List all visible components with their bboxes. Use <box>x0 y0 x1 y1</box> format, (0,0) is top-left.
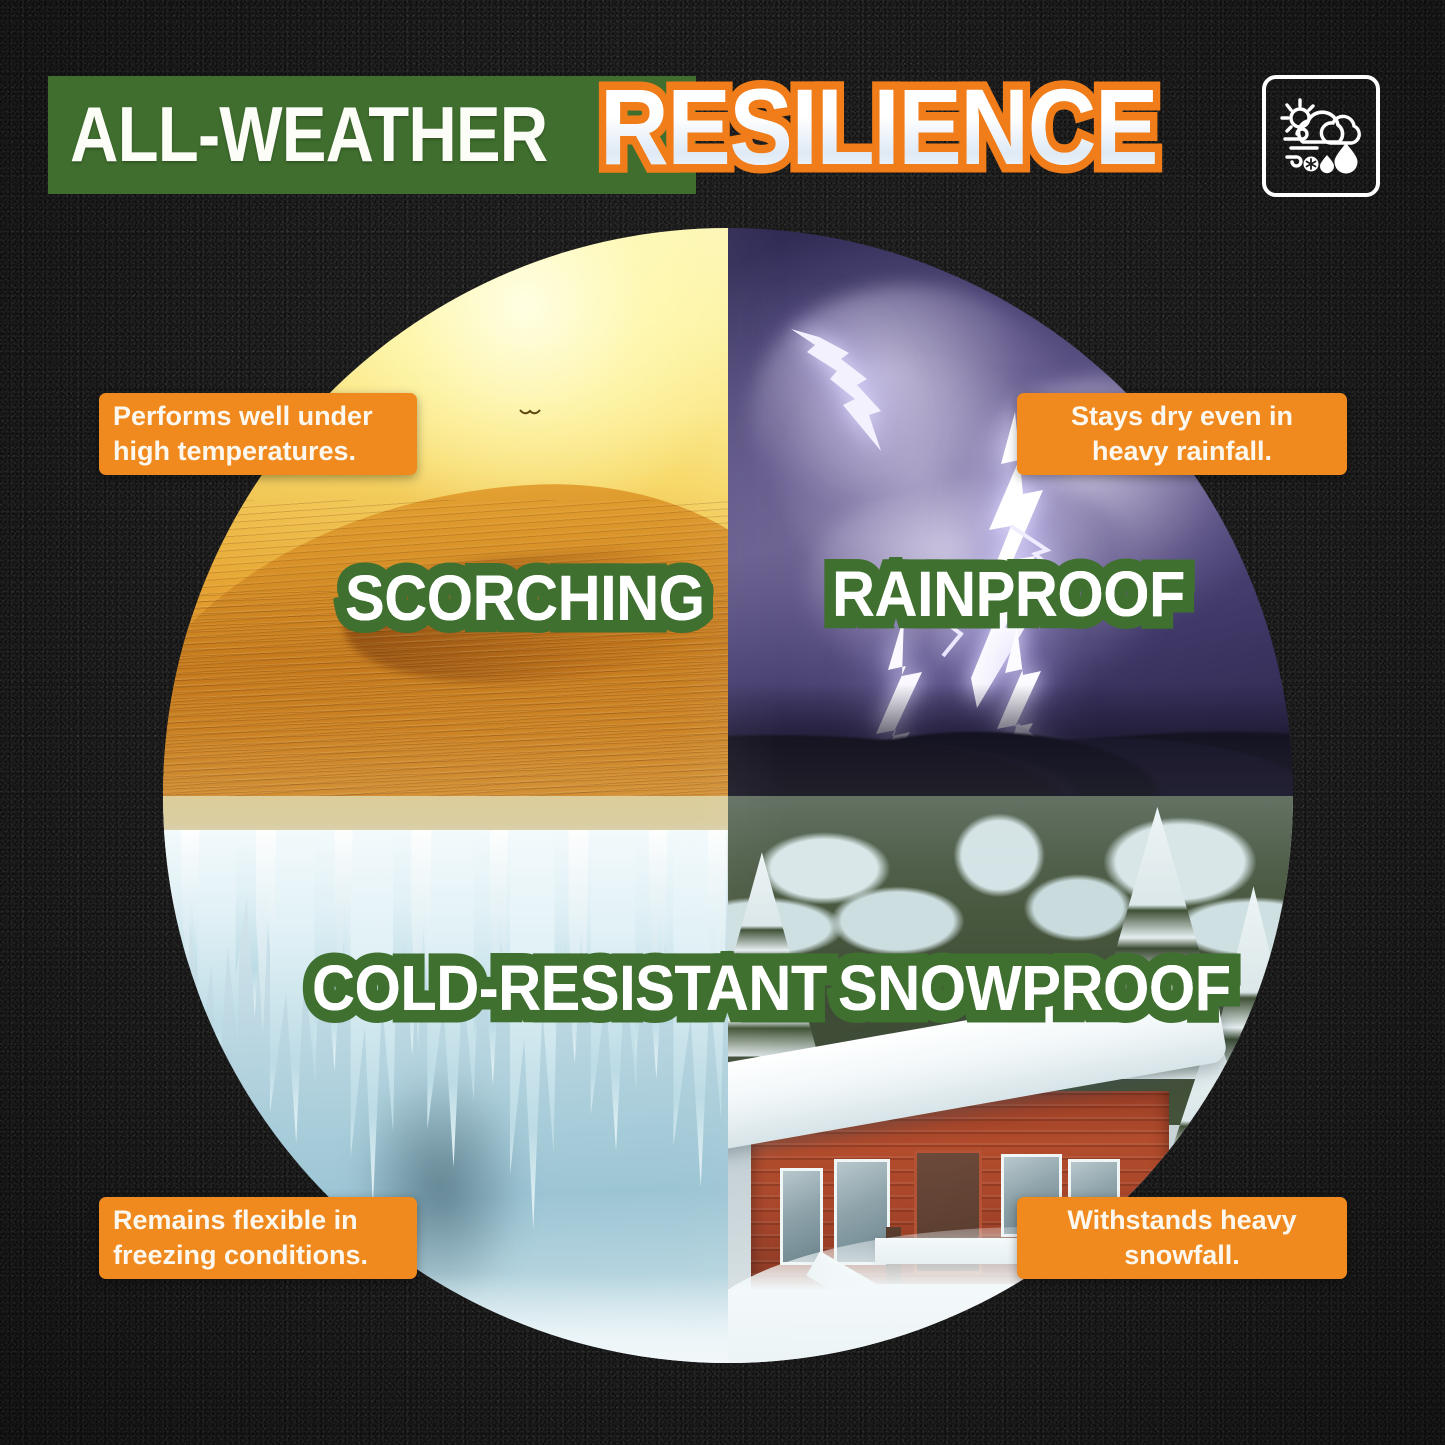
page-title-part2-outline: RESILIENCE <box>600 62 1157 192</box>
raindrop-large-icon <box>1335 143 1358 174</box>
callout-cold: Remains flexible in freezing conditions. <box>99 1197 417 1279</box>
header: ALL-WEATHER RESILIENCE RESILIENCE <box>0 0 1445 228</box>
label-snowproof-outline: SNOWPROOF <box>838 946 1231 1030</box>
quadrant-rainproof <box>728 228 1293 796</box>
quadrant-scorching <box>163 228 728 796</box>
callout-snow-text: Withstands heavy snowfall. <box>1031 1203 1333 1272</box>
weather-badge <box>1262 75 1380 197</box>
callout-heat-text: Performs well under high temperatures. <box>113 399 403 468</box>
label-scorching-outline: SCORCHING <box>345 556 705 640</box>
label-rainproof-outline: RAINPROOF <box>832 552 1185 636</box>
label-cold-resistant-outline: COLD-RESISTANT <box>312 946 827 1030</box>
callout-cold-text: Remains flexible in freezing conditions. <box>113 1203 403 1272</box>
cabin-window-1 <box>780 1168 824 1265</box>
raindrop-small-icon <box>1320 155 1334 173</box>
poster-root: ALL-WEATHER RESILIENCE RESILIENCE <box>0 0 1445 1445</box>
callout-heat: Performs well under high temperatures. <box>99 393 417 475</box>
bird-icon <box>519 404 541 413</box>
ice-floor <box>163 1274 728 1363</box>
snowflake-icon <box>1304 157 1319 172</box>
storm-treeline <box>728 684 1293 796</box>
lightning-bolt-1 <box>785 319 935 479</box>
callout-rain-text: Stays dry even in heavy rainfall. <box>1031 399 1333 468</box>
callout-snow: Withstands heavy snowfall. <box>1017 1197 1347 1279</box>
page-title-part1: ALL-WEATHER <box>70 84 547 184</box>
sun-cloud-wind-snow-rain-icon <box>1275 95 1367 177</box>
callout-rain: Stays dry even in heavy rainfall. <box>1017 393 1347 475</box>
